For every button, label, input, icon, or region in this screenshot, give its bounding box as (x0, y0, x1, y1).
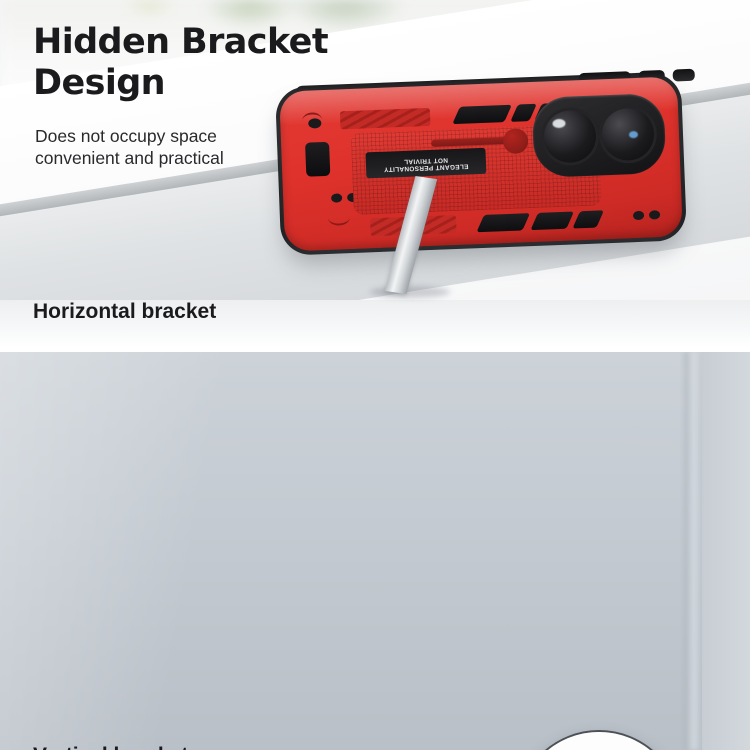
caption-horizontal-bracket: Horizontal bracket (33, 300, 216, 324)
wall-background (0, 352, 750, 750)
product-infographic: ELEGANT PERSONALITY NOT TRIVIAL Hidden B… (0, 0, 750, 750)
page-subtitle-line1: Does not occupy space (35, 126, 365, 148)
rotation-arrow-icon (518, 732, 682, 750)
angle-callout-circle: 90° (516, 730, 682, 750)
page-subtitle-line2: convenient and practical (35, 148, 365, 170)
case-hole (331, 193, 342, 202)
camera-island (532, 93, 667, 178)
case-brand-label-line2: NOT TRIVIAL (404, 155, 448, 164)
case-button-extra (673, 69, 695, 82)
lens-glint (629, 131, 638, 138)
page-title-line2: Design (33, 63, 473, 104)
camera-lens-secondary (598, 104, 658, 164)
case-hole (633, 211, 644, 220)
caption-vertical-bracket: Vertical bracket (33, 744, 188, 750)
lens-glint (552, 119, 565, 128)
panel-vertical-bracket: Vertical bracket 90° (0, 352, 750, 750)
case-vent (476, 213, 530, 232)
case-vent (452, 105, 512, 124)
wall-seam (684, 352, 704, 750)
case-hole (649, 210, 660, 219)
kickstand-shadow (370, 286, 450, 298)
wall-right-section (702, 352, 750, 750)
page-subtitle: Does not occupy space convenient and pra… (35, 126, 365, 170)
case-vent (572, 210, 604, 228)
page-title-line1: Hidden Bracket (33, 22, 473, 63)
case-vent (530, 211, 574, 230)
panel-horizontal-bracket: ELEGANT PERSONALITY NOT TRIVIAL Hidden B… (0, 0, 750, 348)
page-title: Hidden Bracket Design (33, 22, 473, 105)
case-arc-detail-lower (328, 209, 351, 226)
camera-lens-main (540, 106, 600, 166)
case-brand-label: ELEGANT PERSONALITY NOT TRIVIAL (365, 148, 486, 179)
